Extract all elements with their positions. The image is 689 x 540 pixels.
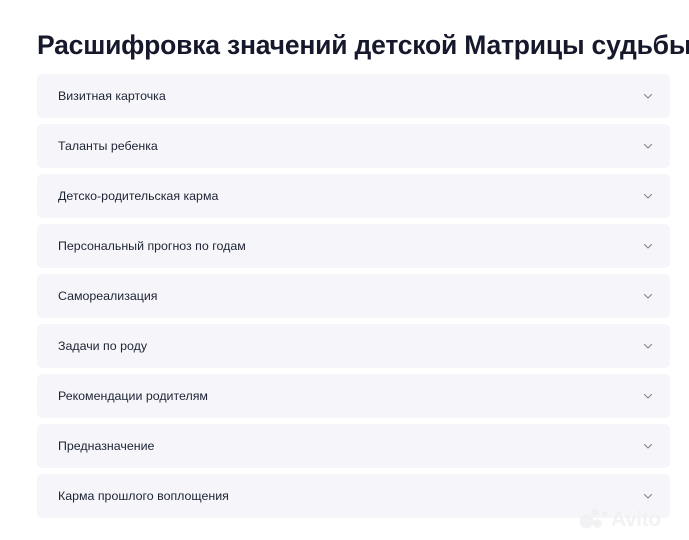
accordion-item-label: Предназначение	[58, 438, 154, 454]
accordion-item-label: Таланты ребенка	[58, 138, 158, 154]
accordion-item-label: Персональный прогноз по годам	[58, 238, 246, 254]
accordion-item-label: Задачи по роду	[58, 338, 147, 354]
accordion-item-label: Самореализация	[58, 288, 158, 304]
accordion-item-label: Карма прошлого воплощения	[58, 488, 229, 504]
chevron-down-icon[interactable]	[642, 490, 654, 502]
chevron-down-icon[interactable]	[642, 340, 654, 352]
accordion-item-prednaznachenie[interactable]: Предназначение	[37, 424, 670, 468]
chevron-down-icon[interactable]	[642, 290, 654, 302]
chevron-down-icon[interactable]	[642, 90, 654, 102]
accordion-item-label: Визитная карточка	[58, 88, 166, 104]
chevron-down-icon[interactable]	[642, 190, 654, 202]
chevron-down-icon[interactable]	[642, 390, 654, 402]
accordion-item-karma-proshlogo-voploshcheniya[interactable]: Карма прошлого воплощения	[37, 474, 670, 518]
accordion-item-label: Рекомендации родителям	[58, 388, 208, 404]
page-root: Расшифровка значений детской Матрицы суд…	[0, 0, 689, 540]
accordion-item-samorealizatsiya[interactable]: Самореализация	[37, 274, 670, 318]
accordion-list: Визитная карточка Таланты ребенка Детско…	[37, 74, 670, 524]
accordion-item-vizitnaya-kartochka[interactable]: Визитная карточка	[37, 74, 670, 118]
accordion-item-zadachi-po-rodu[interactable]: Задачи по роду	[37, 324, 670, 368]
accordion-item-rekomendatsii-roditelyam[interactable]: Рекомендации родителям	[37, 374, 670, 418]
chevron-down-icon[interactable]	[642, 440, 654, 452]
chevron-down-icon[interactable]	[642, 140, 654, 152]
page-title: Расшифровка значений детской Матрицы суд…	[37, 26, 689, 64]
accordion-item-label: Детско-родительская карма	[58, 188, 218, 204]
chevron-down-icon[interactable]	[642, 240, 654, 252]
accordion-item-talanty-rebenka[interactable]: Таланты ребенка	[37, 124, 670, 168]
accordion-item-detsko-roditelskaya-karma[interactable]: Детско-родительская карма	[37, 174, 670, 218]
accordion-item-personalnyy-prognoz-po-godam[interactable]: Персональный прогноз по годам	[37, 224, 670, 268]
